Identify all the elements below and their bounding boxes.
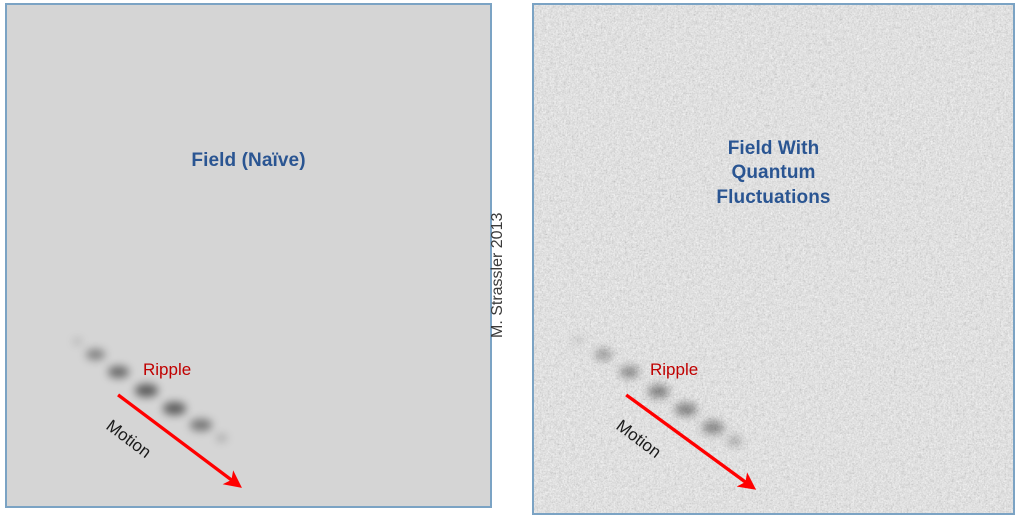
credit-label: M. Strassler 2013 <box>489 213 507 338</box>
figure-root: Field (Naïve) Ripple Motion <box>0 0 1024 518</box>
motion-arrow-quantum <box>534 5 1013 513</box>
panel-field-quantum: Field With Quantum Fluctuations Ripple M… <box>532 3 1015 515</box>
panel-title-quantum: Field With Quantum Fluctuations <box>534 137 1013 210</box>
panel-title-naive: Field (Naïve) <box>7 149 490 173</box>
ripple-label-naive: Ripple <box>143 360 191 380</box>
panel-field-naive: Field (Naïve) Ripple Motion <box>5 3 492 508</box>
ripple-label-quantum: Ripple <box>650 360 698 380</box>
motion-arrow-naive <box>7 5 490 506</box>
